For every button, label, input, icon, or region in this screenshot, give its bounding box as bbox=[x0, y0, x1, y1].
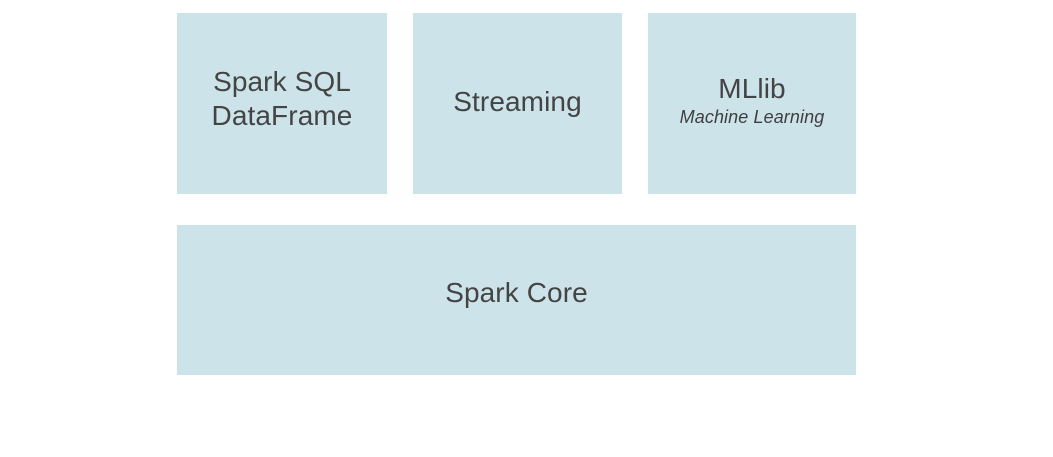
diagram-block-spark-sql[interactable]: Spark SQL DataFrame bbox=[177, 13, 387, 194]
diagram-block-mllib-title: MLlib bbox=[680, 72, 825, 106]
spark-stack-diagram: Spark SQL DataFrame Streaming MLlib Mach… bbox=[0, 0, 1053, 457]
diagram-block-spark-core-title: Spark Core bbox=[445, 276, 588, 310]
diagram-block-spark-sql-title: Spark SQL DataFrame bbox=[212, 65, 353, 133]
diagram-block-mllib[interactable]: MLlib Machine Learning bbox=[648, 13, 856, 194]
diagram-block-streaming-title: Streaming bbox=[453, 85, 582, 119]
diagram-block-mllib-text: MLlib Machine Learning bbox=[680, 72, 825, 128]
diagram-block-mllib-subtitle: Machine Learning bbox=[680, 106, 825, 128]
diagram-block-spark-core[interactable]: Spark Core bbox=[177, 225, 856, 375]
diagram-block-streaming[interactable]: Streaming bbox=[413, 13, 622, 194]
